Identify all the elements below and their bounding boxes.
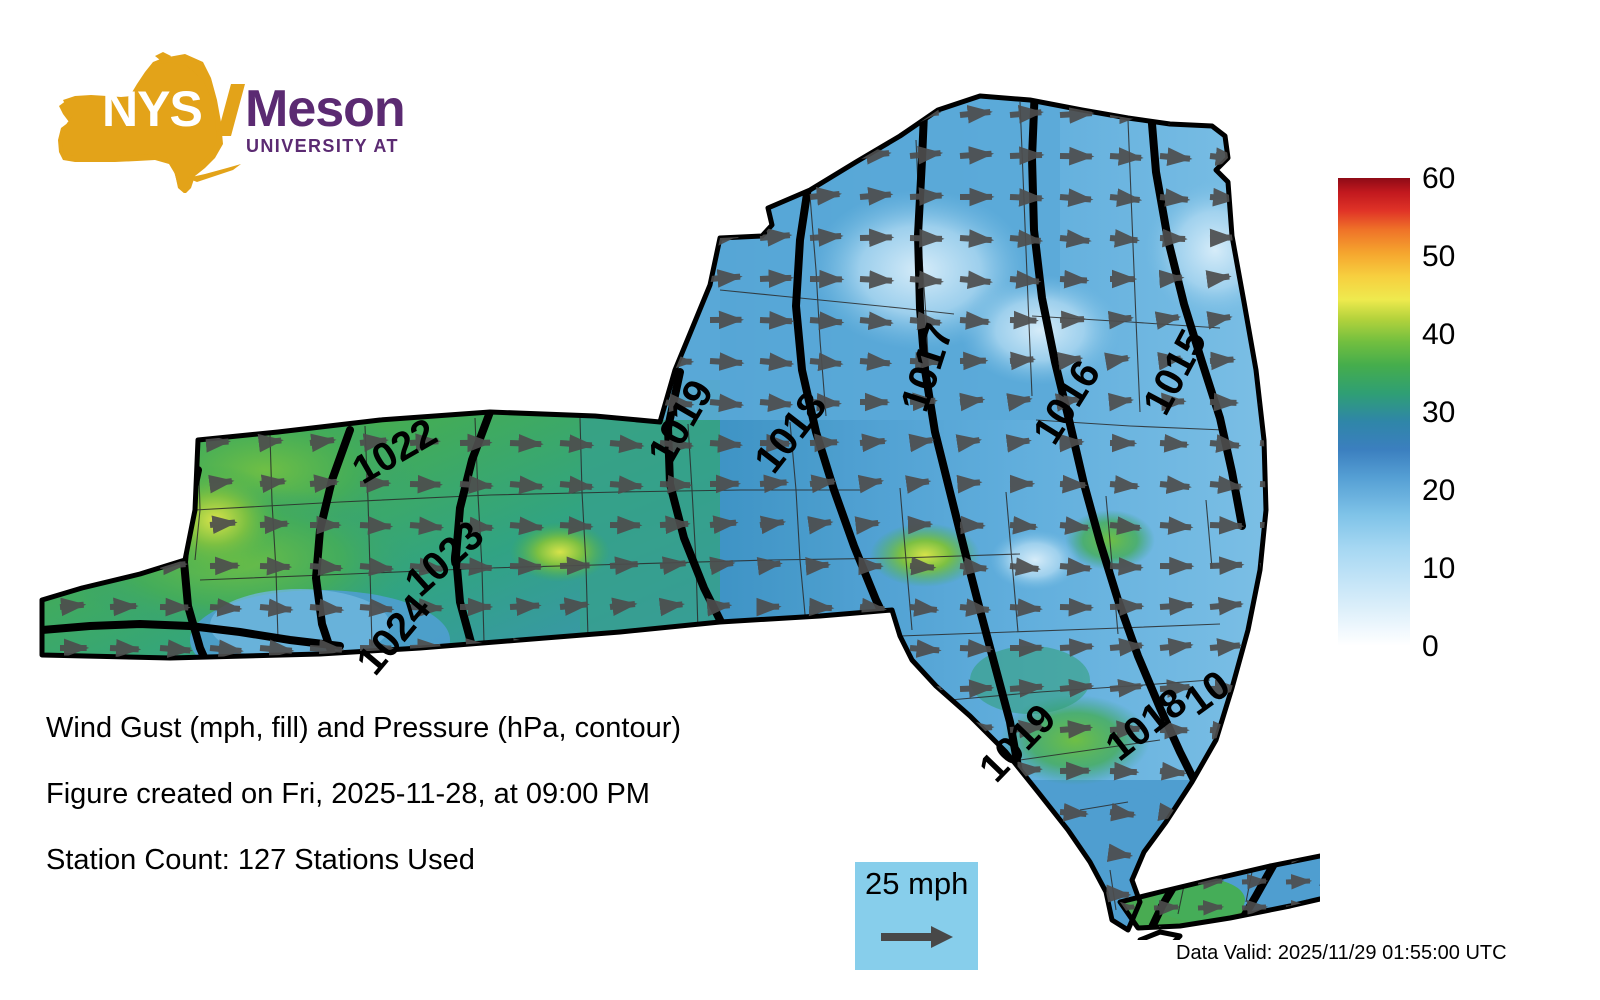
caption-station-line: Station Count: 127 Stations Used bbox=[46, 844, 806, 877]
colorbar-tick-40: 40 bbox=[1422, 320, 1455, 350]
caption-created-line: Figure created on Fri, 2025-11-28, at 09… bbox=[46, 778, 806, 811]
gust-colorbar: 60 50 40 30 20 10 0 bbox=[1318, 170, 1518, 670]
wind-key-arrow-icon bbox=[881, 924, 955, 955]
data-valid-timestamp: Data Valid: 2025/11/29 01:55:00 UTC bbox=[1176, 942, 1507, 965]
colorbar-tick-20: 20 bbox=[1422, 476, 1455, 506]
figure-caption: Wind Gust (mph, fill) and Pressure (hPa,… bbox=[46, 712, 806, 910]
wind-key-label: 25 mph bbox=[865, 866, 968, 902]
colorbar-gradient bbox=[1338, 178, 1410, 646]
colorbar-tick-60: 60 bbox=[1422, 164, 1455, 194]
wind-vector-key: 25 mph bbox=[855, 862, 978, 970]
colorbar-tick-50: 50 bbox=[1422, 242, 1455, 272]
colorbar-tick-0: 0 bbox=[1422, 632, 1439, 662]
caption-title-line: Wind Gust (mph, fill) and Pressure (hPa,… bbox=[46, 712, 806, 745]
colorbar-tick-30: 30 bbox=[1422, 398, 1455, 428]
colorbar-tick-10: 10 bbox=[1422, 554, 1455, 584]
figure-canvas: NYS Mesonet UNIVERSITY AT ALBANY bbox=[0, 0, 1600, 1000]
